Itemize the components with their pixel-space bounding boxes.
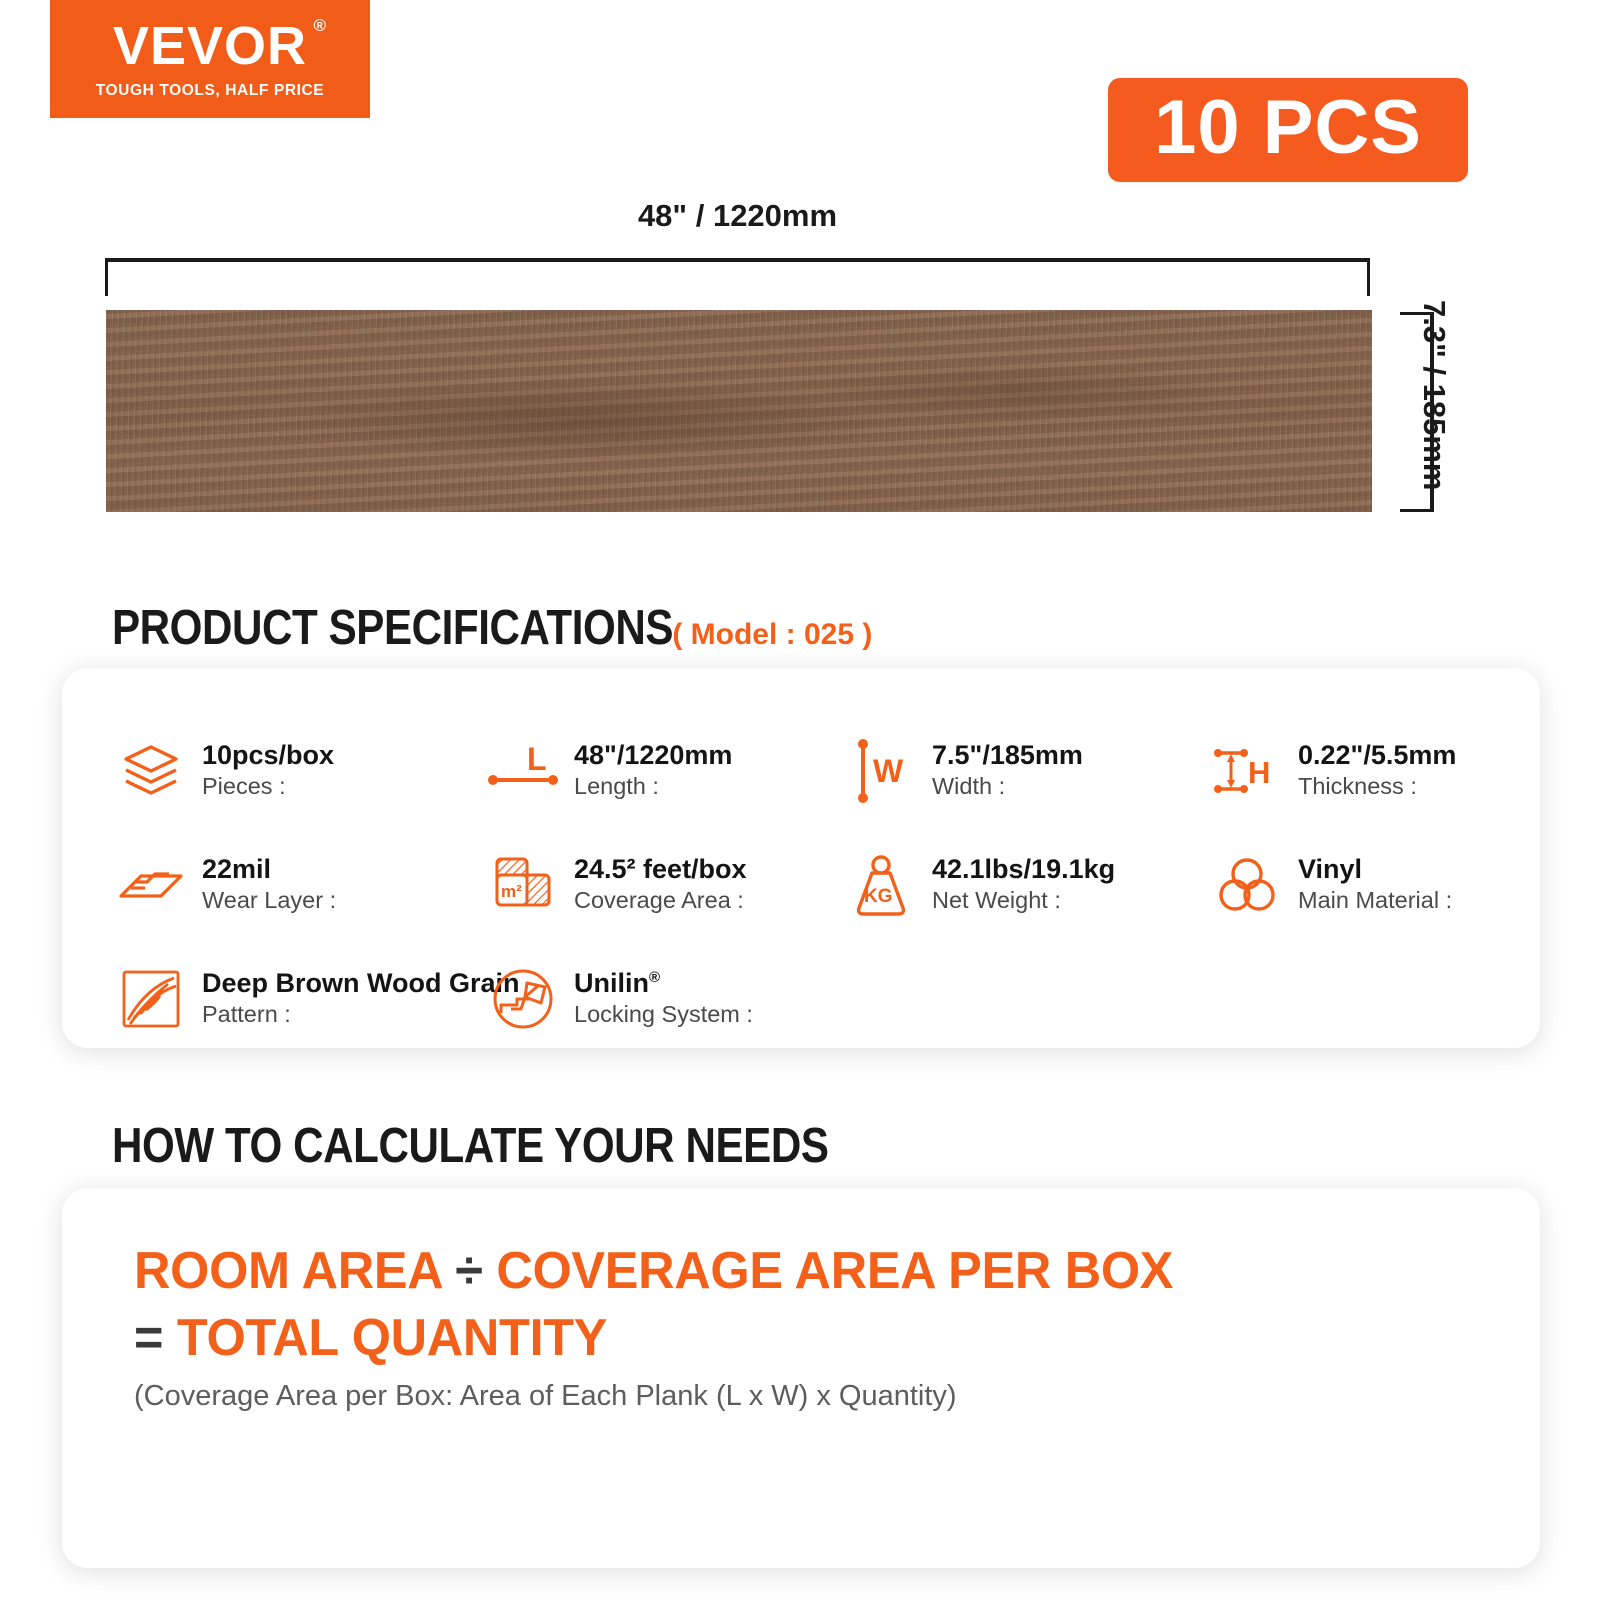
spec-value-width: 7.5"/185mm: [932, 740, 1083, 771]
formula-line-2: = TOTAL QUANTITY: [134, 1305, 1434, 1372]
spec-text-main-material: Vinyl Main Material :: [1298, 854, 1452, 916]
spec-label-net-weight: Net Weight :: [932, 885, 1115, 916]
width-dimension-label: 7.3" / 185mm: [1418, 300, 1452, 530]
calculation-formula: ROOM AREA ÷ COVERAGE AREA PER BOX = TOTA…: [134, 1238, 1474, 1371]
spec-item-coverage-area: m² 24.5² feet/box Coverage Area :: [486, 828, 844, 942]
spec-item-pattern: Deep Brown Wood Grain Pattern :: [114, 942, 486, 1056]
vevor-logo: VEVOR® TOUGH TOOLS, HALF PRICE: [50, 0, 370, 118]
spec-value-main-material: Vinyl: [1298, 854, 1452, 885]
spec-label-width: Width :: [932, 771, 1083, 802]
layers-icon: [114, 734, 188, 808]
spec-item-length: L 48"/1220mm Length :: [486, 714, 844, 828]
registered-trademark-icon: ®: [314, 17, 328, 34]
spec-item-thickness: H 0.22"/5.5mm Thickness :: [1210, 714, 1592, 828]
height-h-icon: H: [1210, 734, 1284, 808]
spec-label-length: Length :: [574, 771, 732, 802]
spec-text-wear-layer: 22mil Wear Layer :: [202, 854, 336, 916]
spec-text-pieces: 10pcs/box Pieces :: [202, 740, 334, 802]
spec-value-wear-layer: 22mil: [202, 854, 336, 885]
spec-value-pattern: Deep Brown Wood Grain: [202, 968, 520, 999]
spec-label-main-material: Main Material :: [1298, 885, 1452, 916]
formula-total-quantity: TOTAL QUANTITY: [177, 1309, 607, 1367]
plank-product-image: [106, 310, 1372, 512]
model-number-label: ( Model : 025 ): [672, 618, 872, 652]
formula-line-1: ROOM AREA ÷ COVERAGE AREA PER BOX: [134, 1238, 1434, 1305]
width-w-icon: W: [844, 734, 918, 808]
formula-coverage-area: COVERAGE AREA PER BOX: [496, 1242, 1173, 1300]
spec-text-length: 48"/1220mm Length :: [574, 740, 732, 802]
svg-text:H: H: [1248, 755, 1270, 790]
material-circles-icon: [1210, 848, 1284, 922]
spec-label-pieces: Pieces :: [202, 771, 334, 802]
spec-label-thickness: Thickness :: [1298, 771, 1456, 802]
spec-value-coverage-area: 24.5² feet/box: [574, 854, 747, 885]
spec-label-wear-layer: Wear Layer :: [202, 885, 336, 916]
svg-text:L: L: [527, 741, 547, 777]
svg-text:KG: KG: [864, 886, 893, 907]
calc-heading-row: HOW TO CALCULATE YOUR NEEDS: [112, 1118, 945, 1174]
spec-label-coverage-area: Coverage Area :: [574, 885, 747, 916]
wood-grain-icon: [114, 962, 188, 1036]
formula-room-area: ROOM AREA: [134, 1242, 441, 1300]
spec-value-length: 48"/1220mm: [574, 740, 732, 771]
calculation-card: ROOM AREA ÷ COVERAGE AREA PER BOX = TOTA…: [62, 1188, 1540, 1568]
brand-wordmark: VEVOR®: [113, 19, 307, 73]
length-dimension-label: 48" / 1220mm: [105, 198, 1370, 234]
locking-brand-text: Unilin: [574, 968, 649, 998]
spec-item-main-material: Vinyl Main Material :: [1210, 828, 1592, 942]
area-m2-icon: m²: [486, 848, 560, 922]
weight-kg-icon: KG: [844, 848, 918, 922]
spec-value-thickness: 0.22"/5.5mm: [1298, 740, 1456, 771]
product-infographic: VEVOR® TOUGH TOOLS, HALF PRICE 10 PCS 48…: [0, 0, 1600, 1600]
spec-item-pieces: 10pcs/box Pieces :: [114, 714, 486, 828]
spec-text-locking-system: Unilin® Locking System :: [574, 968, 753, 1030]
spec-item-wear-layer: 22mil Wear Layer :: [114, 828, 486, 942]
formula-note: (Coverage Area per Box: Area of Each Pla…: [134, 1380, 957, 1413]
spec-text-coverage-area: 24.5² feet/box Coverage Area :: [574, 854, 747, 916]
length-l-icon: L: [486, 734, 560, 808]
spec-text-thickness: 0.22"/5.5mm Thickness :: [1298, 740, 1456, 802]
spec-item-net-weight: KG 42.1lbs/19.1kg Net Weight :: [844, 828, 1210, 942]
svg-text:m²: m²: [501, 882, 522, 901]
quantity-badge-label: 10 PCS: [1154, 85, 1422, 170]
equals-operator-icon: =: [134, 1309, 163, 1367]
specs-heading: PRODUCT SPECIFICATIONS: [112, 600, 673, 656]
spec-item-width: W 7.5"/185mm Width :: [844, 714, 1210, 828]
specs-heading-row: PRODUCT SPECIFICATIONS ( Model : 025 ): [112, 600, 872, 656]
registered-trademark-icon: ®: [649, 969, 660, 986]
calc-heading: HOW TO CALCULATE YOUR NEEDS: [112, 1118, 829, 1174]
length-dimension-bracket: [105, 258, 1370, 296]
brand-name-text: VEVOR: [113, 16, 307, 76]
spec-value-locking-system: Unilin®: [574, 968, 753, 999]
specifications-card: 10pcs/box Pieces : L 48"/1220mm Length: [62, 668, 1540, 1048]
specifications-grid: 10pcs/box Pieces : L 48"/1220mm Length: [62, 714, 1540, 1056]
svg-text:W: W: [873, 753, 904, 789]
brand-tagline: TOUGH TOOLS, HALF PRICE: [96, 82, 325, 100]
wear-layer-icon: [114, 848, 188, 922]
spec-label-locking-system: Locking System :: [574, 999, 753, 1030]
spec-value-pieces: 10pcs/box: [202, 740, 334, 771]
spec-value-net-weight: 42.1lbs/19.1kg: [932, 854, 1115, 885]
locking-system-icon: [486, 962, 560, 1036]
spec-text-width: 7.5"/185mm Width :: [932, 740, 1083, 802]
divide-operator-icon: ÷: [455, 1242, 482, 1300]
quantity-badge: 10 PCS: [1108, 78, 1468, 182]
spec-label-pattern: Pattern :: [202, 999, 520, 1030]
spec-text-pattern: Deep Brown Wood Grain Pattern :: [202, 968, 520, 1030]
spec-item-locking-system: Unilin® Locking System :: [486, 942, 844, 1056]
spec-text-net-weight: 42.1lbs/19.1kg Net Weight :: [932, 854, 1115, 916]
